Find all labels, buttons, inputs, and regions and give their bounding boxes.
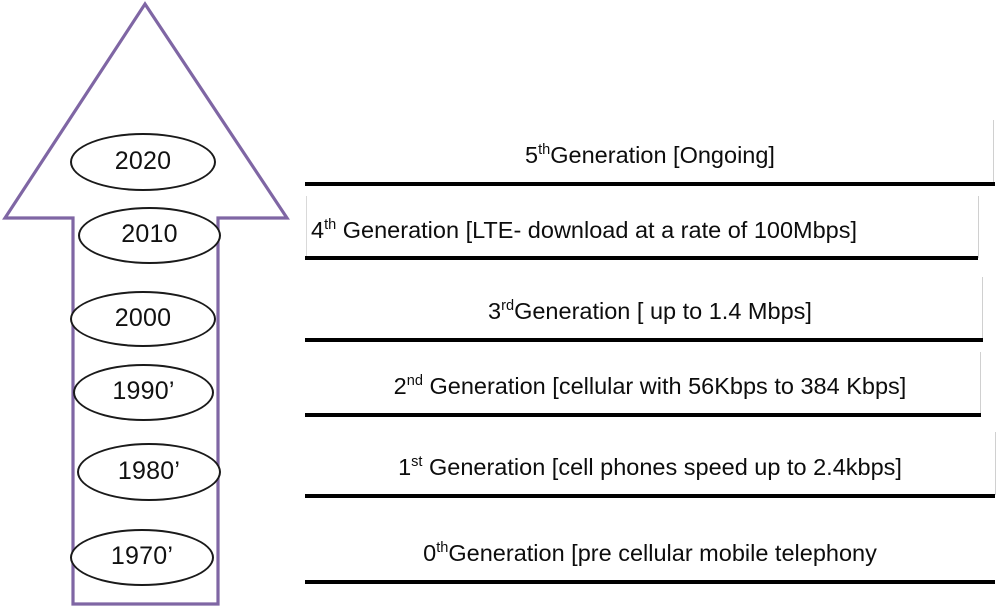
year-label: 1980’ [118, 459, 180, 484]
row-rule [305, 413, 981, 417]
year-oval-2010: 2010 [78, 207, 221, 264]
generation-text: 5thGeneration [Ongoing] [305, 142, 995, 169]
row-rule [305, 494, 995, 498]
generation-text: 0thGeneration [pre cellular mobile telep… [305, 540, 995, 567]
generation-row-1g: 1st Generation [cell phones speed up to … [305, 444, 995, 492]
generation-text: 3rdGeneration [ up to 1.4 Mbps] [305, 298, 995, 325]
year-label: 1970’ [111, 544, 173, 569]
generation-list: 5thGeneration [Ongoing] 4th Generation [… [305, 0, 995, 610]
row-rule [305, 182, 995, 186]
ordinal-suffix: rd [501, 299, 514, 315]
generation-row-2g: 2nd Generation [cellular with 56Kbps to … [305, 363, 995, 411]
ordinal-suffix: th [538, 143, 550, 159]
ordinal-suffix: st [411, 455, 422, 471]
generation-text: 2nd Generation [cellular with 56Kbps to … [305, 373, 995, 400]
ordinal-suffix: th [436, 541, 448, 557]
year-label: 2010 [121, 222, 177, 247]
year-label: 2000 [115, 306, 171, 331]
generation-text: 4th Generation [LTE- download at a rate … [305, 217, 995, 244]
row-edge-right [978, 196, 979, 258]
year-label: 2020 [115, 149, 171, 174]
year-label: 1990’ [112, 379, 174, 404]
row-edge-right [982, 277, 983, 340]
generation-row-5g: 5thGeneration [Ongoing] [305, 132, 995, 180]
ordinal-suffix: th [324, 218, 336, 234]
year-oval-2000: 2000 [70, 291, 216, 347]
generation-row-0g: 0thGeneration [pre cellular mobile telep… [305, 530, 995, 578]
year-oval-1970: 1970’ [70, 529, 214, 586]
row-rule [305, 580, 995, 584]
row-edge-right [980, 352, 981, 415]
year-oval-1980: 1980’ [77, 443, 221, 501]
year-oval-1990: 1990’ [73, 364, 214, 421]
row-edge-left [306, 196, 307, 258]
generation-row-4g: 4th Generation [LTE- download at a rate … [305, 207, 995, 255]
generation-text: 1st Generation [cell phones speed up to … [305, 454, 995, 481]
row-rule [305, 256, 978, 260]
generation-row-3g: 3rdGeneration [ up to 1.4 Mbps] [305, 288, 995, 336]
diagram-canvas: 2020 2010 2000 1990’ 1980’ 1970’ 5thGene… [0, 0, 1001, 610]
row-rule [305, 338, 983, 342]
row-edge-right [993, 120, 994, 183]
ordinal-suffix: nd [407, 374, 423, 390]
row-edge-right [995, 432, 996, 495]
year-oval-2020: 2020 [70, 133, 216, 191]
